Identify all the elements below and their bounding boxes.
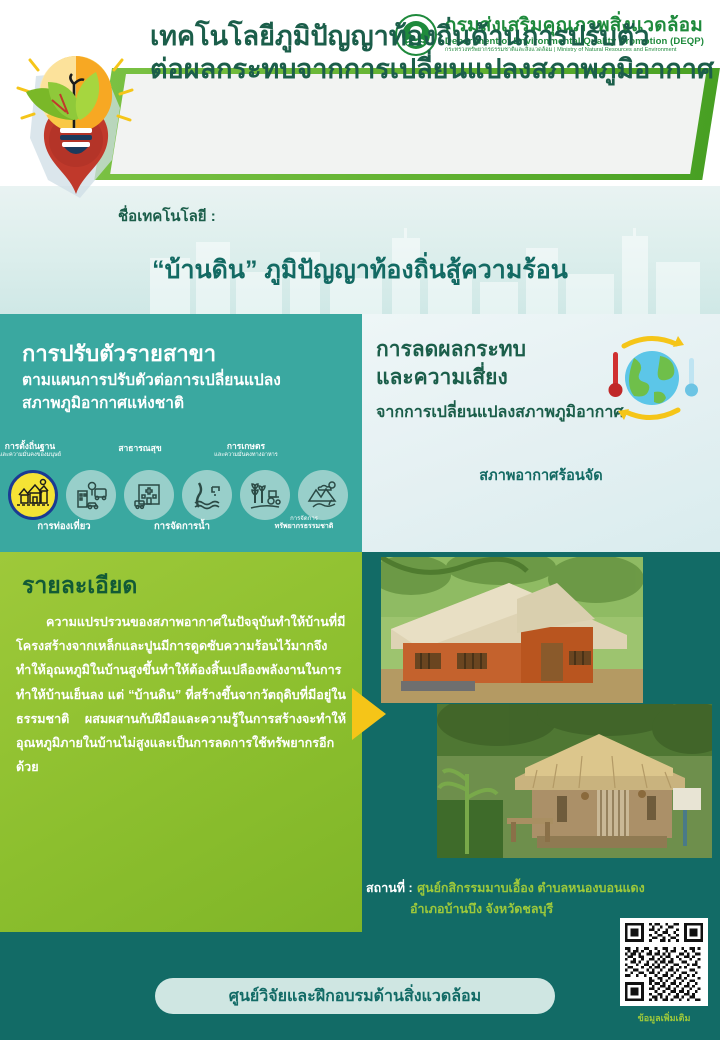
sector-item-tourism[interactable]: [66, 470, 118, 520]
mitigation-heading-line-1: การลดผลกระทบ: [376, 338, 526, 361]
sector-label-public-health: สาธารณสุข: [80, 444, 200, 454]
sector-item-natural-resources[interactable]: [298, 470, 350, 520]
lightbulb-leaf-map-pin-icon: [8, 48, 143, 208]
details-panel: รายละเอียด ความแปรปรวนของสภาพอากาศในปัจจ…: [0, 552, 362, 932]
adaptation-heading: การปรับตัวรายสาขา: [22, 336, 216, 371]
adaptation-sub-line-1: ตามแผนการปรับตัวต่อการเปลี่ยนแปลง: [22, 372, 281, 389]
play-arrow-icon: [352, 688, 386, 740]
weather-note: สภาพอากาศร้อนจัด: [362, 464, 720, 487]
location-line-1: ศูนย์กสิกรรมมาบเอื้อง ตำบลหนองบอนแดง: [417, 881, 645, 895]
sector-label-natural-resources: การจัดการ ทรัพยากรธรรมชาติ: [244, 516, 364, 531]
earthen-house-front-photo: [381, 557, 643, 703]
title-line-2: ต่อผลกระทบจากการเปลี่ยนแปลงสภาพภูมิอากาศ: [150, 53, 695, 86]
sector-item-water[interactable]: [182, 470, 234, 520]
tourism-city-car-icon: [66, 470, 116, 520]
location-label: สถานที่ :: [366, 881, 413, 895]
sector-label-agriculture: การเกษตร และความมั่นคงทางอาหาร: [186, 442, 306, 458]
mitigation-heading-line-2: และความเสี่ยง: [376, 366, 508, 389]
earthen-house-garden-photo: [437, 704, 712, 858]
sector-label-water: การจัดการน้ำ: [122, 522, 242, 533]
adaptation-panel: การปรับตัวรายสาขา ตามแผนการปรับตัวต่อการ…: [0, 314, 362, 552]
sector-icons-row: การตั้งถิ่นฐาน และความมั่นคงของมนุษย์: [8, 442, 358, 547]
footer-organization-pill: ศูนย์วิจัยและฝึกอบรมด้านสิ่งแวดล้อม: [155, 978, 555, 1014]
water-management-tap-icon: [182, 470, 232, 520]
adaptation-subheading: ตามแผนการปรับตัวต่อการเปลี่ยนแปลง สภาพภู…: [22, 369, 352, 416]
details-heading: รายละเอียด: [22, 568, 137, 604]
details-body: ความแปรปรวนของสภาพอากาศในปัจจุบันทำให้บ้…: [16, 610, 346, 779]
mitigation-heading: การลดผลกระทบ และความเสี่ยง: [376, 336, 526, 391]
mitigation-subheading: จากการเปลี่ยนแปลงสภาพภูมิอากาศ: [376, 400, 624, 425]
agriculture-wheat-tractor-icon: [240, 470, 290, 520]
sector-label-settlement: การตั้งถิ่นฐาน และความมั่นคงของมนุษย์: [0, 442, 90, 458]
globe-thermometer-icon: [598, 330, 706, 426]
public-health-hospital-icon: [124, 470, 174, 520]
natural-resources-mountain-icon: [298, 470, 348, 520]
location-block: สถานที่ : ศูนย์กสิกรรมมาบเอื้อง ตำบลหนอง…: [366, 878, 716, 921]
adaptation-sub-line-2: สภาพภูมิอากาศแห่งชาติ: [22, 395, 184, 412]
settlement-houses-icon: [8, 470, 58, 520]
sector-item-public-health[interactable]: [124, 470, 176, 520]
title-line-1: เทคโนโลยีภูมิปัญญาท้องถิ่นด้านการปรับตัว: [150, 20, 695, 53]
sector-label-tourism: การท่องเที่ยว: [4, 522, 124, 533]
mitigation-panel: การลดผลกระทบ และความเสี่ยง จากการเปลี่ยน…: [362, 314, 720, 552]
page-title: เทคโนโลยีภูมิปัญญาท้องถิ่นด้านการปรับตัว…: [150, 20, 695, 86]
banner-white-shape: [110, 74, 706, 174]
technology-name: “บ้านดิน” ภูมิปัญญาท้องถิ่นสู้ความร้อน: [0, 250, 720, 290]
qr-caption: ข้อมูลเพิ่มเติม: [620, 1011, 708, 1025]
sector-item-settlement[interactable]: [8, 470, 60, 520]
footer-organization-text: ศูนย์วิจัยและฝึกอบรมด้านสิ่งแวดล้อม: [229, 984, 481, 1009]
sector-item-agriculture[interactable]: [240, 470, 292, 520]
qr-code-icon[interactable]: [620, 918, 708, 1006]
